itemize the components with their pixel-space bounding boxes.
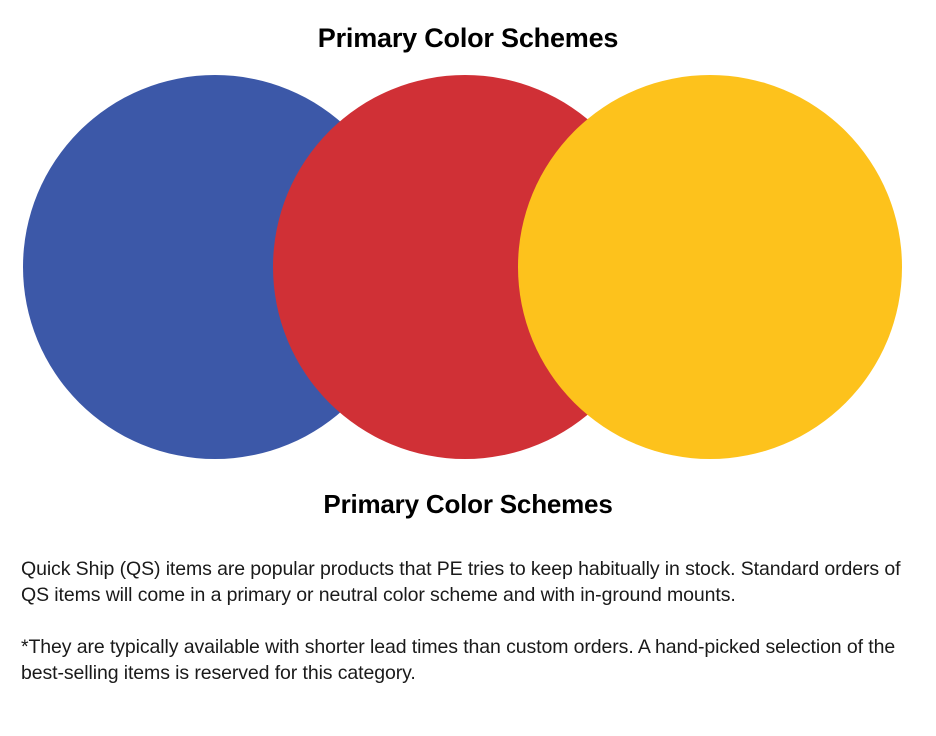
- paragraph-lead-times: *They are typically available with short…: [21, 634, 901, 686]
- paragraph-quick-ship: Quick Ship (QS) items are popular produc…: [21, 556, 901, 608]
- page-title: Primary Color Schemes: [0, 22, 936, 54]
- body-copy: Quick Ship (QS) items are popular produc…: [21, 556, 901, 686]
- slide-canvas: Primary Color Schemes Primary Color Sche…: [0, 0, 936, 736]
- venn-diagram-svg: [0, 60, 936, 480]
- yellow-circle: [518, 75, 902, 459]
- diagram-caption: Primary Color Schemes: [0, 489, 936, 520]
- venn-diagram: [0, 60, 936, 480]
